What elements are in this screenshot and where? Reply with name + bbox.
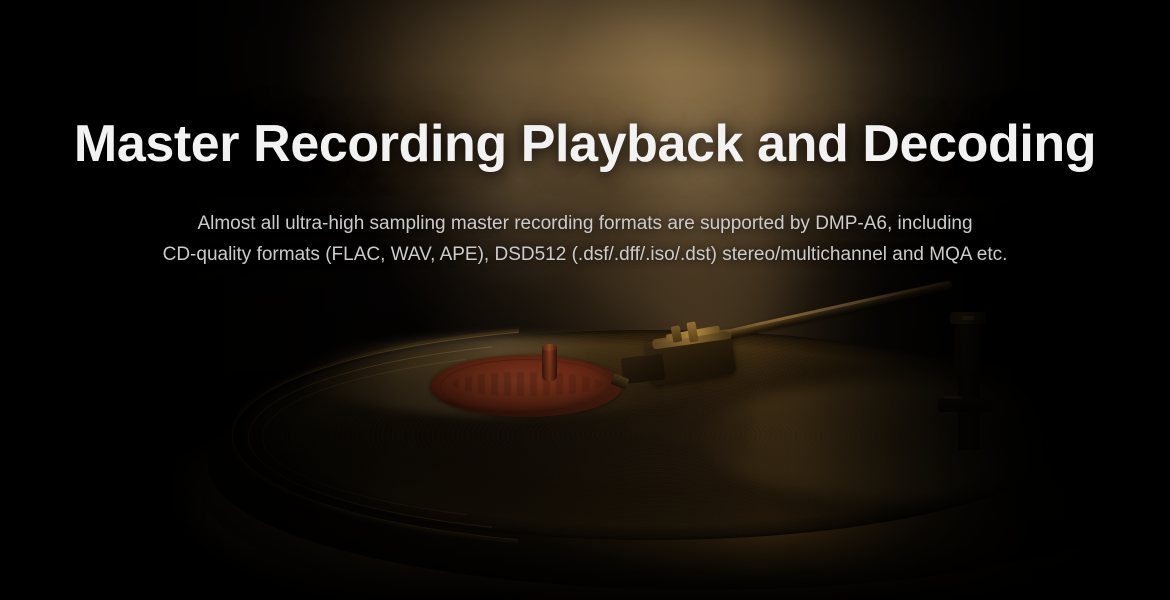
banner-text-block: Master Recording Playback and Decoding A… <box>0 0 1170 600</box>
page-title: Master Recording Playback and Decoding <box>0 112 1170 176</box>
banner-subtitle: Almost all ultra-high sampling master re… <box>0 208 1170 270</box>
subtitle-line-2: CD-quality formats (FLAC, WAV, APE), DSD… <box>0 239 1170 270</box>
subtitle-line-1: Almost all ultra-high sampling master re… <box>0 208 1170 239</box>
hero-banner: Master Recording Playback and Decoding A… <box>0 0 1170 600</box>
